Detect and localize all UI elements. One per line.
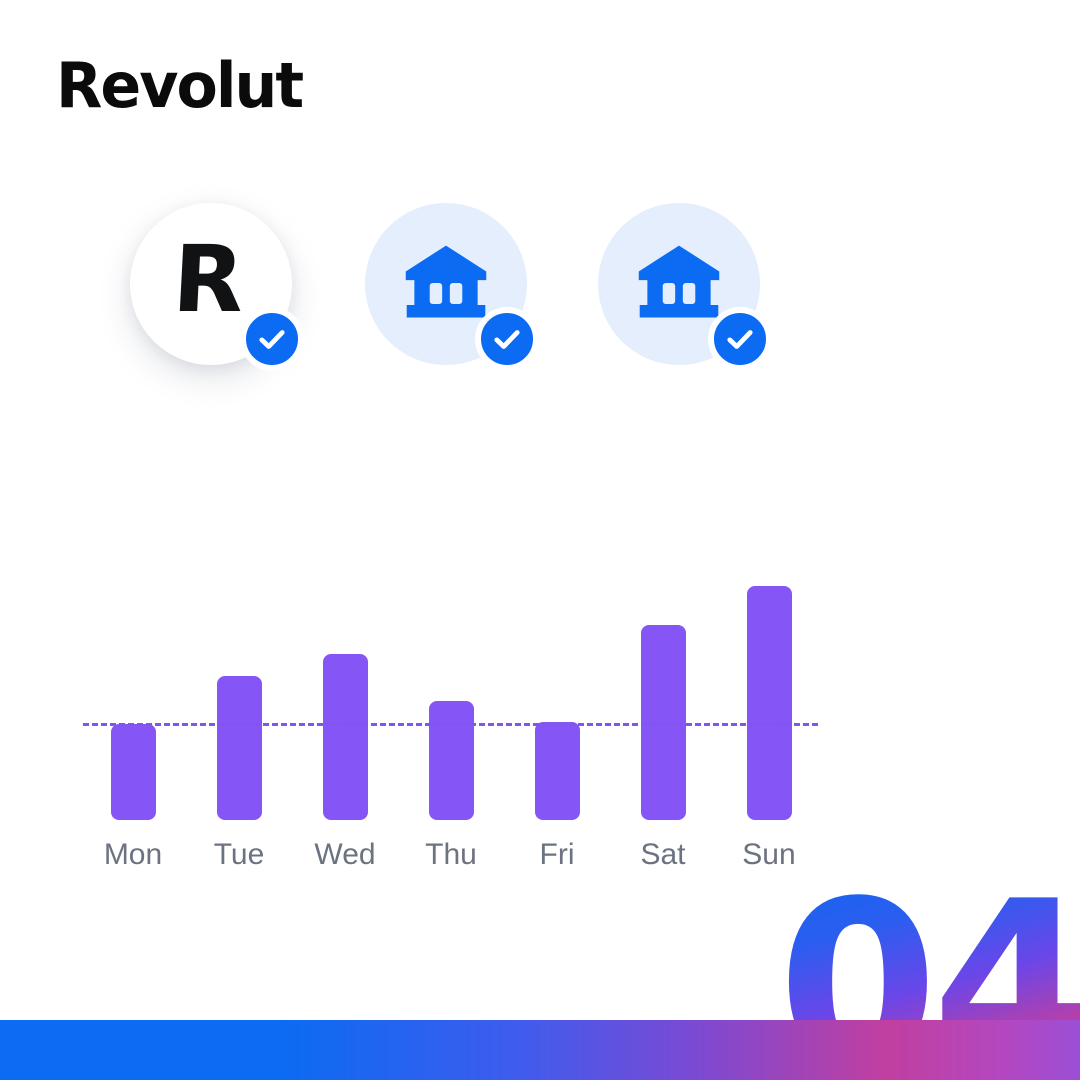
bar-sat[interactable] (641, 625, 686, 821)
weekly-activity-bar-chart: MonTueWedThuFriSatSun (0, 0, 1080, 360)
bar-label-wed: Wed (285, 840, 405, 870)
bar-label-thu: Thu (391, 840, 511, 870)
bar-label-mon: Mon (73, 840, 193, 870)
bar-tue[interactable] (217, 676, 262, 821)
average-baseline (83, 723, 818, 726)
bar-fri[interactable] (535, 722, 580, 820)
bar-thu[interactable] (429, 701, 474, 820)
bar-sun[interactable] (747, 586, 792, 820)
bar-label-fri: Fri (497, 840, 617, 870)
bar-label-sat: Sat (603, 840, 723, 870)
bar-label-tue: Tue (179, 840, 299, 870)
bar-wed[interactable] (323, 654, 368, 820)
bar-mon[interactable] (111, 724, 156, 820)
slide-canvas: Revolut R (0, 0, 1080, 1080)
footer-gradient-bar (0, 1020, 1080, 1080)
